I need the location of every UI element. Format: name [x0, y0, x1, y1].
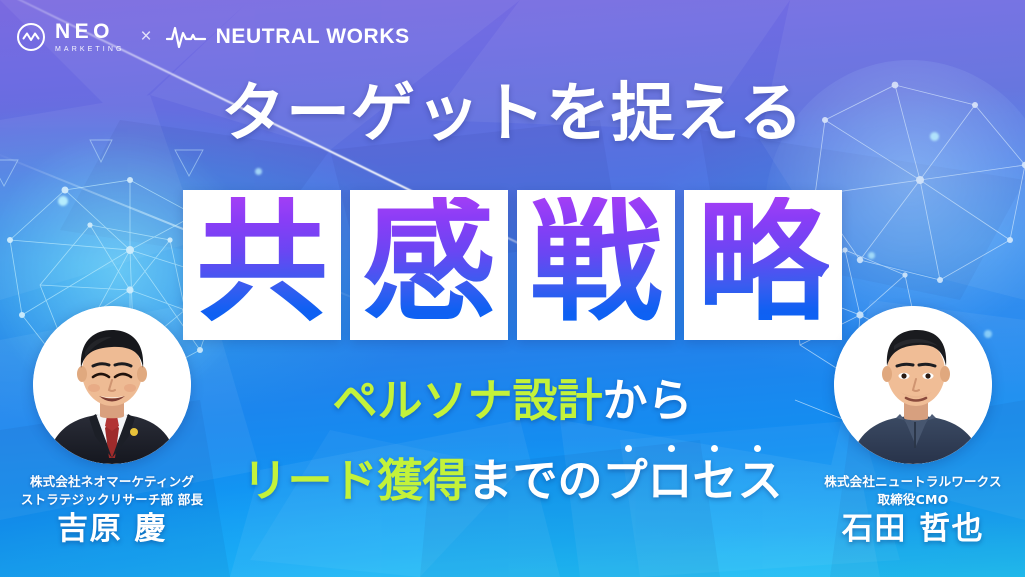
logo-bar: NEO MARKETING × NEUTRAL WORKS: [16, 17, 410, 57]
neutral-works-wordmark: NEUTRAL WORKS: [216, 25, 410, 49]
subtitle-2-emphasized: プロセス: [603, 458, 783, 503]
emphasis-dots: [603, 445, 783, 452]
pulse-wave-icon: [166, 24, 206, 50]
speaker-right-org: 株式会社ニュートラルワークス 取締役CMO: [793, 473, 1025, 509]
speaker-left-company: 株式会社ネオマーケティング: [30, 474, 194, 489]
kanji-char: 戦: [530, 197, 662, 329]
neutral-works-logo[interactable]: NEUTRAL WORKS: [166, 24, 410, 50]
avatar: [33, 306, 191, 464]
avatar: [834, 306, 992, 464]
portrait-ishida: [834, 306, 992, 464]
subtitle-2-highlight: リード獲得: [242, 454, 467, 507]
subtitle-2-plain: までの: [467, 454, 602, 507]
main-headline: ターゲットを捉える: [0, 82, 1025, 146]
neo-tagline: MARKETING: [55, 46, 125, 53]
speaker-left: 株式会社ネオマーケティング ストラテジックリサーチ部 部長 吉原 慶: [0, 306, 232, 548]
neo-wordmark: NEO: [55, 21, 125, 42]
subtitle-2-emphasized-text: プロセス: [603, 454, 783, 507]
kanji-char: 感: [363, 197, 495, 329]
kanji-box: 戦: [517, 190, 675, 340]
logo-separator-x: ×: [141, 26, 152, 48]
speaker-right-name: 石田 哲也: [793, 512, 1025, 548]
neo-wave-circle-icon: [16, 22, 46, 52]
slide-canvas: NEO MARKETING × NEUTRAL WORKS ターゲットを捉える …: [0, 0, 1025, 577]
kanji-box: 感: [350, 190, 508, 340]
neo-marketing-logo[interactable]: NEO MARKETING: [16, 21, 125, 53]
portrait-yoshihara: [33, 306, 191, 464]
speaker-right: 株式会社ニュートラルワークス 取締役CMO 石田 哲也: [793, 306, 1025, 548]
speaker-right-company: 株式会社ニュートラルワークス: [824, 474, 1001, 489]
subtitle-1-plain: から: [603, 374, 693, 427]
speaker-left-name: 吉原 慶: [0, 512, 232, 548]
speaker-left-title: ストラテジックリサーチ部 部長: [21, 492, 203, 507]
speaker-right-title: 取締役CMO: [878, 492, 949, 507]
speaker-left-org: 株式会社ネオマーケティング ストラテジックリサーチ部 部長: [0, 473, 232, 509]
subtitle-1-highlight: ペルソナ設計: [332, 374, 602, 427]
